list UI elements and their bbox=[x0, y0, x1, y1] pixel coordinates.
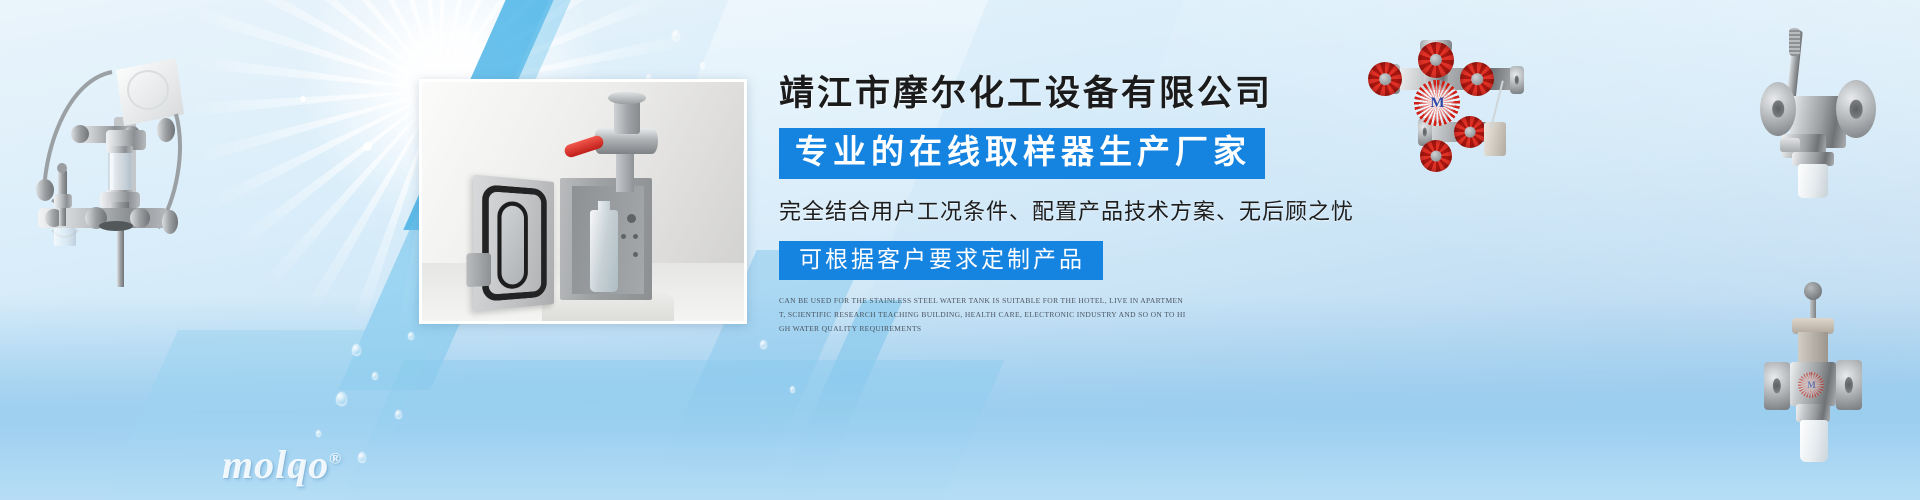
brand-seal-badge: M bbox=[1414, 80, 1460, 126]
water-droplet bbox=[395, 410, 402, 419]
lever-knob bbox=[1804, 282, 1822, 300]
company-name: 靖江市摩尔化工设备有限公司 bbox=[779, 74, 1399, 114]
subline-text: 完全结合用户工况条件、配置产品技术方案、无后顾之忧 bbox=[779, 194, 1399, 226]
flange bbox=[1836, 360, 1862, 410]
water-droplet bbox=[760, 340, 767, 349]
tagline-badge: 可根据客户要求定制产品 bbox=[779, 241, 1103, 280]
brand-watermark: molqo® bbox=[222, 441, 342, 488]
headline-badge: 专业的在线取样器生产厂家 bbox=[779, 128, 1265, 179]
flange bbox=[1760, 82, 1796, 136]
water-droplet bbox=[336, 392, 347, 406]
water-droplet bbox=[790, 386, 795, 393]
brand-seal-badge: M bbox=[1798, 372, 1824, 398]
valve-stem bbox=[616, 152, 634, 192]
water-droplet bbox=[672, 30, 680, 41]
valve-stack bbox=[614, 100, 640, 134]
red-handwheel bbox=[1420, 140, 1452, 172]
flange bbox=[1764, 362, 1790, 410]
center-product-photo bbox=[419, 79, 747, 324]
registered-mark-icon: ® bbox=[329, 451, 342, 468]
door-window bbox=[497, 201, 527, 290]
top-sampling-valve bbox=[590, 96, 664, 182]
seal-letter: M bbox=[1807, 380, 1815, 390]
sample-bottle bbox=[590, 210, 618, 292]
water-droplet bbox=[700, 62, 705, 69]
sampler-cabinet-door bbox=[473, 174, 554, 311]
english-description: CAN BE USED FOR THE STAINLESS STEEL WATE… bbox=[779, 294, 1189, 336]
right-product-lever-valve bbox=[1752, 22, 1912, 207]
valve-body bbox=[1396, 68, 1516, 90]
water-droplet bbox=[316, 430, 321, 437]
flange bbox=[1510, 66, 1524, 94]
diagonal-ribbon bbox=[315, 360, 1004, 500]
water-droplet bbox=[352, 344, 361, 356]
red-handwheel bbox=[1460, 62, 1494, 96]
seal-letter: M bbox=[1430, 95, 1443, 112]
water-droplet bbox=[408, 332, 414, 340]
red-handwheel bbox=[1418, 42, 1454, 78]
lever-grip bbox=[1789, 28, 1800, 56]
receiver-cylinder bbox=[1484, 122, 1506, 156]
left-product-image bbox=[8, 22, 198, 287]
watermark-text: molqo bbox=[222, 442, 329, 487]
collection-bottle bbox=[1798, 164, 1828, 198]
red-handwheel bbox=[1454, 116, 1486, 148]
water-droplet bbox=[358, 452, 366, 463]
door-latch bbox=[466, 253, 491, 287]
collection-bottle bbox=[1800, 420, 1828, 462]
banner-text-block: 靖江市摩尔化工设备有限公司 专业的在线取样器生产厂家 完全结合用户工况条件、配置… bbox=[779, 74, 1399, 336]
nameplate bbox=[1780, 138, 1800, 152]
right-product-bottom-valve: M bbox=[1754, 280, 1904, 480]
lens-flare-dot bbox=[363, 142, 372, 151]
bonnet-neck bbox=[1798, 332, 1828, 366]
promo-banner: M M 靖江市摩尔化工设备有限公司 专业的在线取样器生产厂家 完全结合用户工况条… bbox=[0, 0, 1920, 500]
flange bbox=[1836, 80, 1876, 138]
lens-flare-dot bbox=[300, 96, 306, 102]
water-droplet bbox=[372, 372, 378, 380]
valve-cap bbox=[608, 92, 646, 104]
